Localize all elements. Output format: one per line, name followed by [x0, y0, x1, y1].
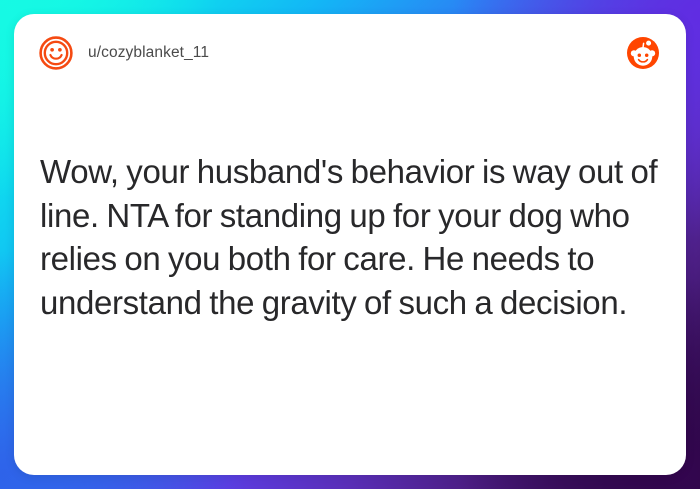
card-header: u/cozyblanket_11 — [14, 14, 686, 92]
gradient-background: u/cozyblanket_11 Wow, your husband's beh… — [0, 0, 700, 489]
comment-text: Wow, your husband's behavior is way out … — [40, 150, 664, 324]
reddit-snoo-icon[interactable] — [626, 36, 660, 70]
smiley-face-circle-icon — [38, 35, 74, 71]
username-label: u/cozyblanket_11 — [88, 44, 209, 62]
reddit-comment-card: u/cozyblanket_11 Wow, your husband's beh… — [14, 14, 686, 475]
